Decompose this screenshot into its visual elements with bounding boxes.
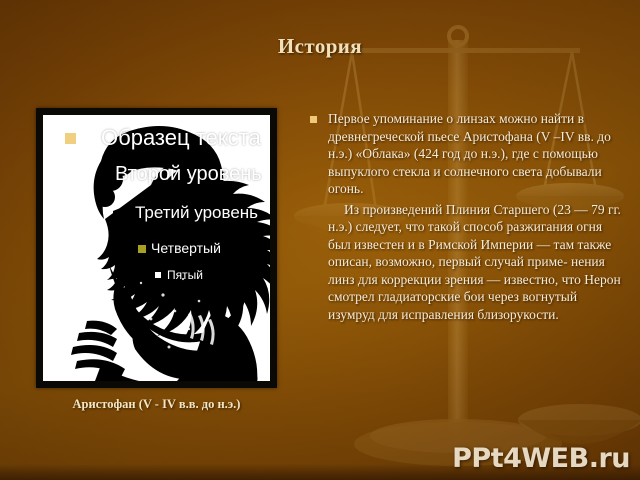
presentation-slide: История <box>0 0 640 480</box>
body-paragraph-2-text: Из произведений Плиния Старшего (23 — 79… <box>328 202 621 322</box>
picture-caption: Аристофан (V - IV в.в. до н.э.) <box>36 397 277 412</box>
body-text-column: Первое упоминание о линзах можно найти в… <box>306 110 624 327</box>
aristophanes-portrait-image <box>43 115 270 381</box>
watermark: PPt4WEB.ru <box>452 443 630 474</box>
portrait-frame[interactable]: Образец текста Второй уровень Третий уро… <box>36 108 277 388</box>
body-paragraph-1: Первое упоминание о линзах можно найти в… <box>306 110 624 198</box>
body-paragraph-1-text: Первое упоминание о линзах можно найти в… <box>328 111 611 196</box>
body-paragraph-2: Из произведений Плиния Старшего (23 — 79… <box>306 201 624 324</box>
bullet-square-icon <box>310 116 317 123</box>
slide-title: История <box>0 34 640 59</box>
picture-block: Образец текста Второй уровень Третий уро… <box>36 108 277 412</box>
